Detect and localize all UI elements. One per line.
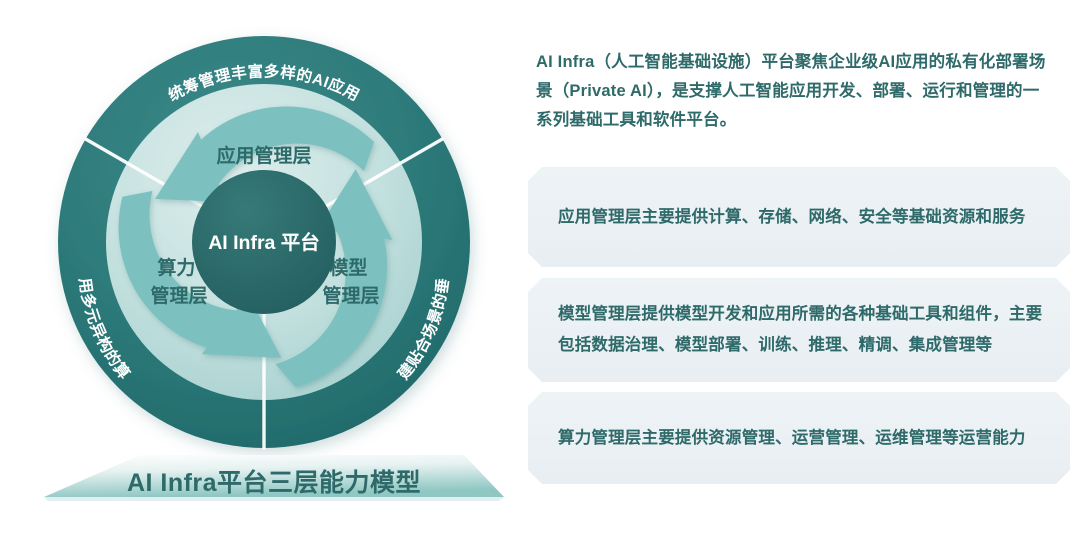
info-card-model-text: 模型管理层提供模型开发和应用所需的各种基础工具和组件，主要包括数据治理、模型部署… [528,299,1070,361]
info-card-application-text: 应用管理层主要提供计算、存储、网络、安全等基础资源和服务 [528,202,1052,233]
infographic-root: 统筹管理丰富多样的AI应用 快速构建贴合场景的垂域模型 高效利用多元异构的算力资… [0,0,1080,551]
description-panel: AI Infra（人工智能基础设施）平台聚焦企业级AI应用的私有化部署场景（Pr… [528,0,1080,551]
info-card-compute-text: 算力管理层主要提供资源管理、运营管理、运维管理等运营能力 [528,423,1052,454]
capability-wheel-diagram: 统筹管理丰富多样的AI应用 快速构建贴合场景的垂域模型 高效利用多元异构的算力资… [0,0,520,551]
intro-paragraph: AI Infra（人工智能基础设施）平台聚焦企业级AI应用的私有化部署场景（Pr… [536,48,1054,135]
pedestal-shape [44,455,504,507]
info-card-compute: 算力管理层主要提供资源管理、运营管理、运维管理等运营能力 [528,392,1070,484]
info-card-application: 应用管理层主要提供计算、存储、网络、安全等基础资源和服务 [528,167,1070,267]
layer-label-application: 应用管理层 [216,144,311,167]
three-layer-wheel: 统筹管理丰富多样的AI应用 快速构建贴合场景的垂域模型 高效利用多元异构的算力资… [58,36,470,448]
info-card-model: 模型管理层提供模型开发和应用所需的各种基础工具和组件，主要包括数据治理、模型部署… [528,278,1070,382]
core-label: AI Infra 平台 [208,231,320,254]
